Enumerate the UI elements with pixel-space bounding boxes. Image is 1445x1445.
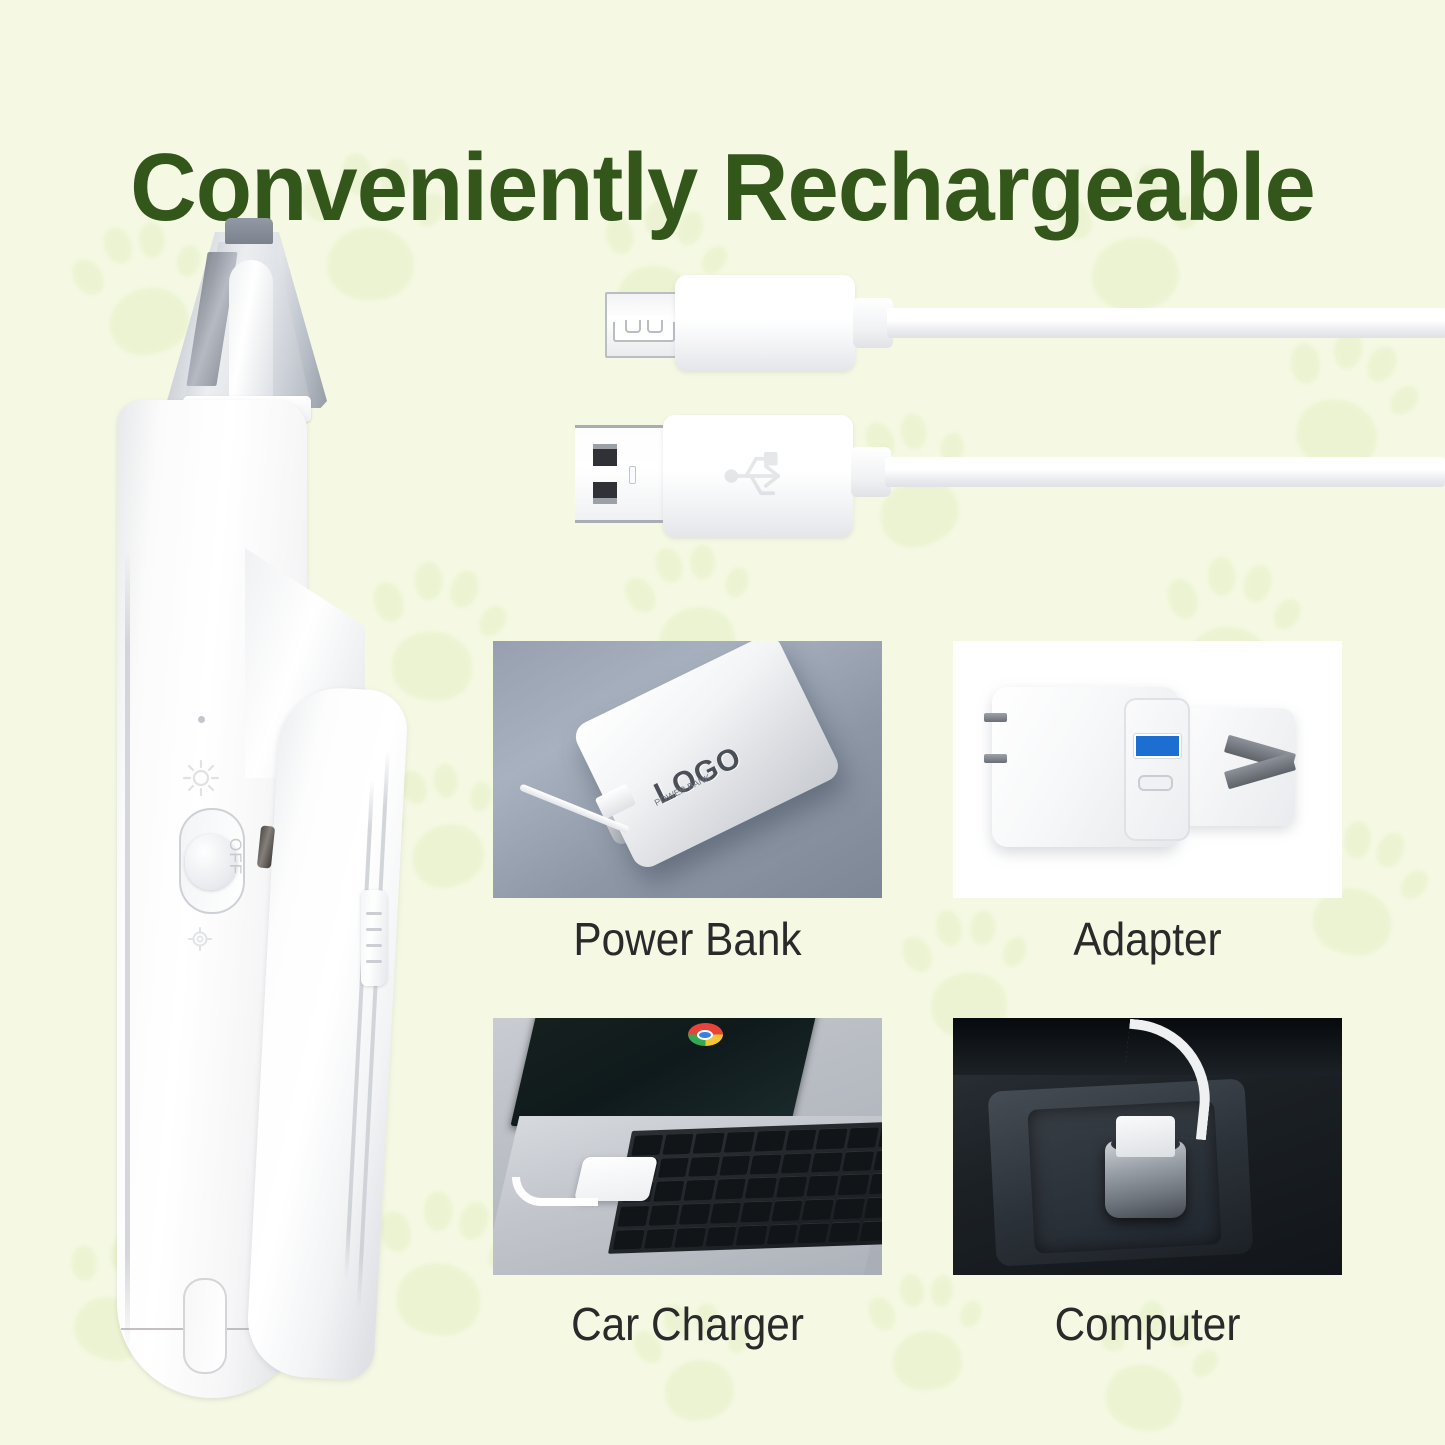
gear-icon [185, 924, 215, 954]
micro-usb-housing [675, 275, 855, 371]
battery-cap-slot [183, 1278, 227, 1374]
usb-a-cable [885, 457, 1445, 487]
photo-card-computer [953, 1018, 1342, 1275]
usb-a-housing [663, 415, 853, 537]
micro-usb-connector [605, 270, 1445, 390]
usb-trident-icon [719, 439, 793, 513]
sun-icon [181, 758, 221, 798]
photo-card-adapter [953, 641, 1342, 898]
blade-guard [167, 218, 327, 413]
switch-off-label: OFF [225, 838, 245, 875]
photo-card-power-bank: LOGO POWER BANK [493, 641, 882, 898]
caption-computer: Computer [969, 1297, 1327, 1351]
caption-car-charger: Car Charger [509, 1297, 867, 1351]
led-indicator [198, 716, 205, 723]
micro-usb-cable [887, 308, 1445, 338]
usb-a-connector [575, 415, 1445, 555]
adapter-usb-c-port [1138, 775, 1173, 792]
product-image-nail-grinder: OFF [95, 218, 455, 1398]
caption-power-bank: Power Bank [509, 912, 867, 966]
usb-a-tip [575, 425, 665, 523]
photo-card-car-charger [493, 1018, 882, 1275]
marketing-image: Conveniently Rechargeable [0, 0, 1445, 1445]
adapter-usb-a-port [1134, 734, 1181, 759]
chrome-logo-icon [688, 1023, 723, 1046]
micro-usb-tip [605, 292, 681, 358]
grip-tab [361, 890, 387, 986]
caption-adapter: Adapter [969, 912, 1327, 966]
